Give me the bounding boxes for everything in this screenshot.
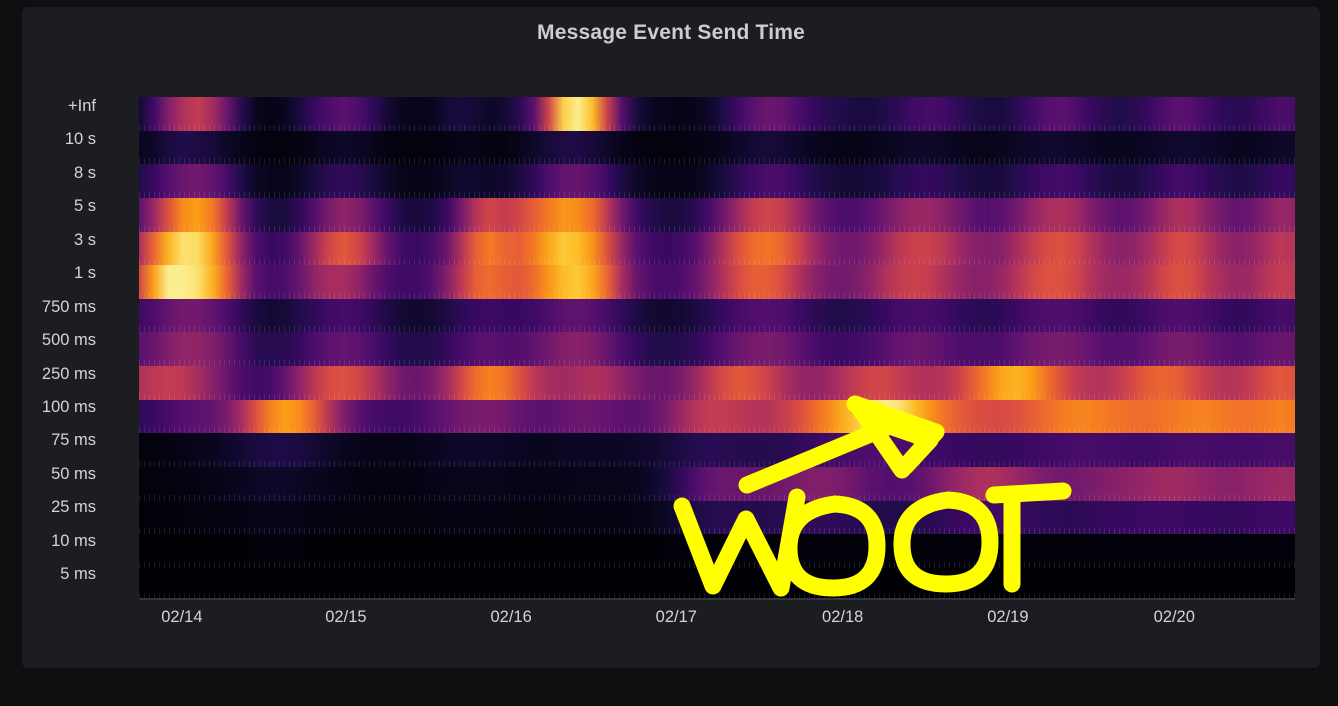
y-tick-label: 25 ms <box>22 491 96 524</box>
y-tick-label: 5 s <box>22 190 96 223</box>
y-tick-label: 3 s <box>22 224 96 257</box>
y-tick-label: 75 ms <box>22 424 96 457</box>
heatmap-row[interactable] <box>139 433 1295 467</box>
heatmap-row[interactable] <box>139 467 1295 501</box>
y-axis: +Inf10 s8 s5 s3 s1 s750 ms500 ms250 ms10… <box>22 90 96 592</box>
heatmap-row[interactable] <box>139 299 1295 333</box>
x-tick-label: 02/20 <box>1154 608 1195 627</box>
screen: Message Event Send Time +Inf10 s8 s5 s3 … <box>0 0 1338 706</box>
heatmap-row[interactable] <box>139 97 1295 131</box>
heatmap-row[interactable] <box>139 568 1295 599</box>
x-axis: 02/1402/1502/1602/1702/1802/1902/20 <box>117 608 1297 638</box>
x-tick-label: 02/18 <box>822 608 863 627</box>
y-tick-label: 750 ms <box>22 291 96 324</box>
y-tick-label: 100 ms <box>22 391 96 424</box>
x-tick-label: 02/14 <box>161 608 202 627</box>
panel-title: Message Event Send Time <box>22 21 1320 45</box>
x-tick-label: 02/17 <box>656 608 697 627</box>
heatmap-row[interactable] <box>139 501 1295 535</box>
y-tick-label: 250 ms <box>22 358 96 391</box>
x-tick-label: 02/16 <box>490 608 531 627</box>
heatmap-row[interactable] <box>139 198 1295 232</box>
y-tick-label: 5 ms <box>22 558 96 591</box>
heatmap-panel[interactable]: Message Event Send Time +Inf10 s8 s5 s3 … <box>22 7 1320 668</box>
heatmap-row[interactable] <box>139 400 1295 434</box>
next-panel-title-sliver <box>22 694 1320 706</box>
y-tick-label: 10 s <box>22 123 96 156</box>
x-tick-label: 02/15 <box>325 608 366 627</box>
y-tick-label: 50 ms <box>22 458 96 491</box>
heatmap-row[interactable] <box>139 534 1295 568</box>
heatmap-row[interactable] <box>139 332 1295 366</box>
heatmap-row[interactable] <box>139 265 1295 299</box>
heatmap-row[interactable] <box>139 164 1295 198</box>
x-tick-label: 02/19 <box>987 608 1028 627</box>
heatmap-plot-area[interactable] <box>139 97 1295 599</box>
y-tick-label: 1 s <box>22 257 96 290</box>
heatmap-row[interactable] <box>139 366 1295 400</box>
y-tick-label: +Inf <box>22 90 96 123</box>
y-tick-label: 500 ms <box>22 324 96 357</box>
y-tick-label: 8 s <box>22 157 96 190</box>
heatmap-row[interactable] <box>139 131 1295 165</box>
x-axis-line <box>139 598 1295 600</box>
y-tick-label: 10 ms <box>22 525 96 558</box>
heatmap-row[interactable] <box>139 232 1295 266</box>
